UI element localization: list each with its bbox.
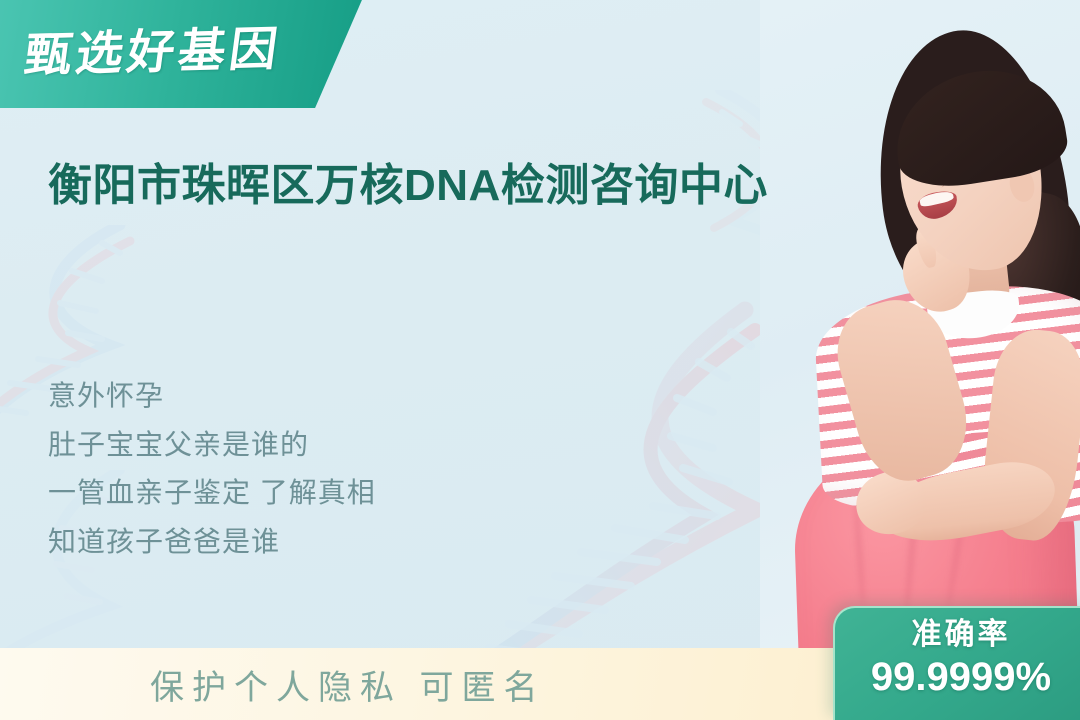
accuracy-badge: 准确率 99.9999%	[833, 606, 1080, 720]
body-copy-line-1: 意外怀孕	[48, 372, 568, 421]
body-copy-line-2: 肚子宝宝父亲是谁的	[48, 421, 568, 470]
brand-logo-banner[interactable]: 甄选好基因	[0, 0, 368, 108]
body-copy-line-3: 一管血亲子鉴定 了解真相	[48, 469, 568, 518]
body-copy: 意外怀孕 肚子宝宝父亲是谁的 一管血亲子鉴定 了解真相 知道孩子爸爸是谁	[48, 372, 568, 567]
accuracy-badge-label: 准确率	[835, 616, 1080, 654]
accuracy-badge-value: 99.9999%	[835, 654, 1080, 700]
page-title: 衡阳市珠晖区万核DNA检测咨询中心	[48, 158, 838, 213]
promotional-poster: 甄选好基因 衡阳市珠晖区万核DNA检测咨询中心 意外怀孕 肚子宝宝父亲是谁的 一…	[0, 0, 1080, 720]
body-copy-line-4: 知道孩子爸爸是谁	[48, 518, 568, 567]
pregnant-woman-photo	[760, 0, 1080, 700]
brand-logo-text: 甄选好基因	[21, 9, 286, 85]
privacy-banner-text: 保护个人隐私 可匿名	[150, 660, 545, 709]
